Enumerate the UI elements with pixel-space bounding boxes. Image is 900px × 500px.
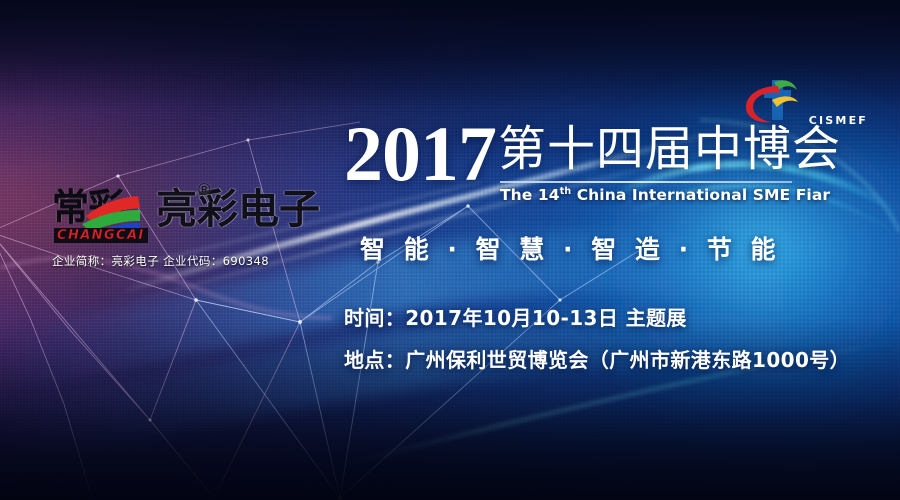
title-block: 第十四届中博会 The 14th China International SME…: [498, 118, 841, 204]
event-banner: 常彩 CHANGCAI 亮彩电子 ® 企业简称：亮彩电子 企业代码：690348…: [0, 0, 900, 500]
title-divider: [500, 181, 792, 183]
en-title-ordinal: th: [560, 186, 572, 197]
title-row: 2017 第十四届中博会 The 14th China Internationa…: [344, 118, 874, 204]
event-year: 2017: [344, 118, 496, 190]
event-title-cn: 第十四届中博会: [498, 121, 841, 177]
company-logo-caption: 企业简称：亮彩电子 企业代码：690348: [52, 253, 292, 269]
event-venue-line: 地点：广州保利世贸博览会（广州市新港东路1000号）: [344, 344, 874, 373]
event-slogan: 智 能 · 智 慧 · 智 造 · 节 能: [360, 230, 874, 266]
event-info: 时间：2017年10月10-13日 主题展 地点：广州保利世贸博览会（广州市新港…: [344, 302, 874, 373]
en-title-part2: China International SME Fiar: [571, 186, 830, 204]
company-logo-pinyin: CHANGCAI: [54, 228, 148, 243]
company-logo: 常彩 CHANGCAI 亮彩电子 ® 企业简称：亮彩电子 企业代码：690348: [52, 186, 292, 269]
event-date-line: 时间：2017年10月10-13日 主题展: [344, 302, 874, 331]
company-logo-row: 常彩 CHANGCAI 亮彩电子 ®: [52, 186, 292, 248]
company-wordmark: 亮彩电子: [156, 187, 320, 231]
registered-trademark-icon: ®: [198, 180, 211, 200]
en-title-part1: The 14: [500, 186, 560, 204]
company-logo-mark: 常彩 CHANGCAI: [52, 186, 148, 242]
event-title-en: The 14th China International SME Fiar: [500, 186, 841, 204]
banner-content: 2017 第十四届中博会 The 14th China Internationa…: [344, 118, 874, 386]
